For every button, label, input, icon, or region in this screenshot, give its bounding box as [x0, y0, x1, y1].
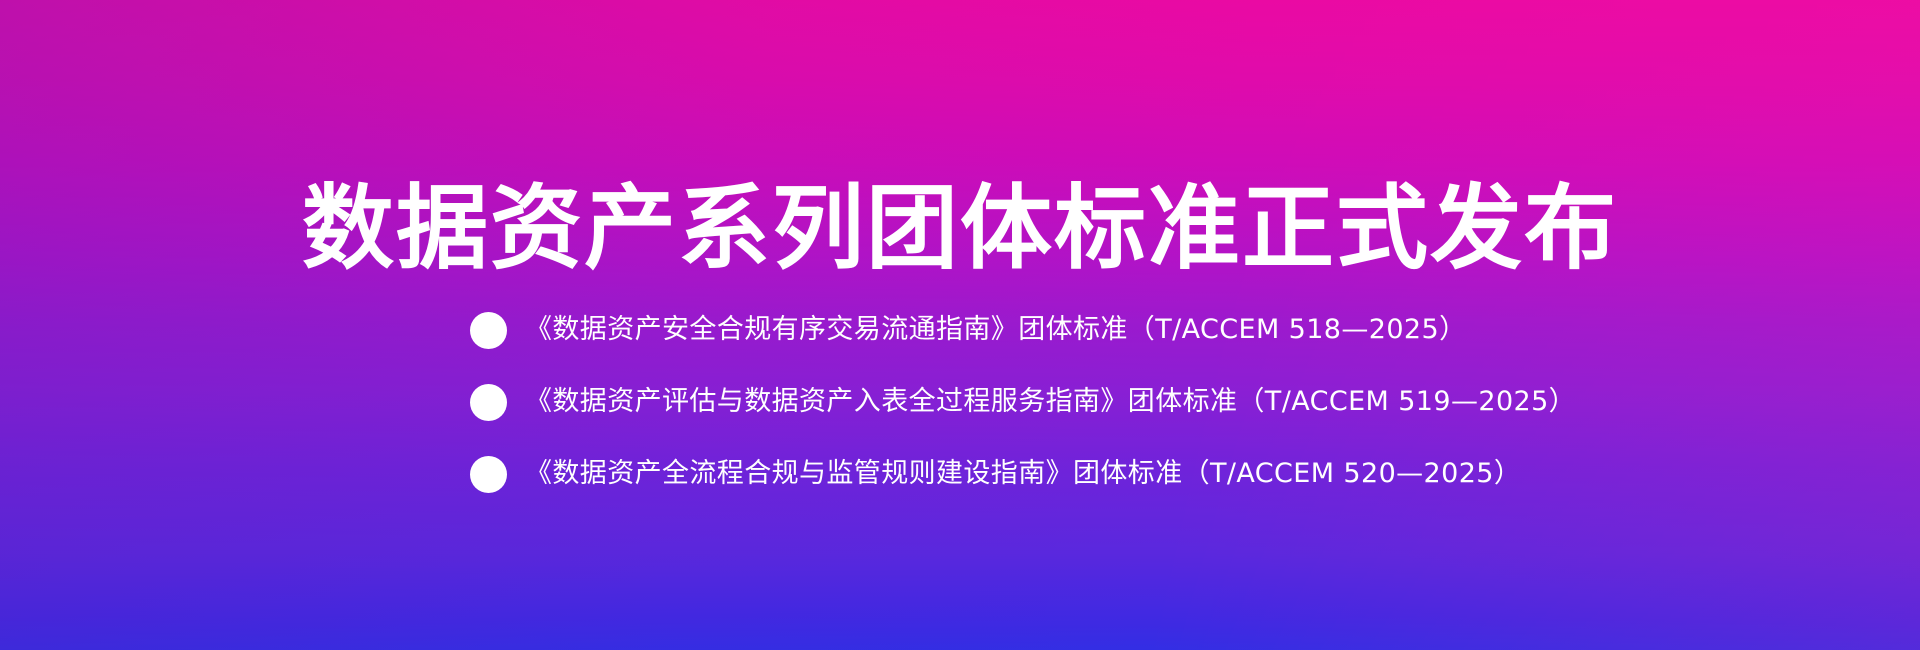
filled-circle-bullet-icon	[470, 456, 507, 493]
list-item: 《数据资产全流程合规与监管规则建设指南》团体标准（T/ACCEM 520—202…	[470, 450, 1576, 498]
list-item: 《数据资产安全合规有序交易流通指南》团体标准（T/ACCEM 518—2025）	[470, 306, 1576, 354]
filled-circle-bullet-icon	[470, 384, 507, 421]
page-title: 数据资产系列团体标准正式发布	[0, 180, 1920, 278]
standard-label: 《数据资产安全合规有序交易流通指南》团体标准（T/ACCEM 518—2025）	[525, 314, 1466, 346]
list-item: 《数据资产评估与数据资产入表全过程服务指南》团体标准（T/ACCEM 519—2…	[470, 378, 1576, 426]
standard-label: 《数据资产评估与数据资产入表全过程服务指南》团体标准（T/ACCEM 519—2…	[525, 386, 1576, 418]
promo-banner: 数据资产系列团体标准正式发布 《数据资产安全合规有序交易流通指南》团体标准（T/…	[0, 0, 1920, 650]
standards-list: 《数据资产安全合规有序交易流通指南》团体标准（T/ACCEM 518—2025）…	[470, 306, 1576, 498]
standard-label: 《数据资产全流程合规与监管规则建设指南》团体标准（T/ACCEM 520—202…	[525, 458, 1521, 490]
filled-circle-bullet-icon	[470, 312, 507, 349]
